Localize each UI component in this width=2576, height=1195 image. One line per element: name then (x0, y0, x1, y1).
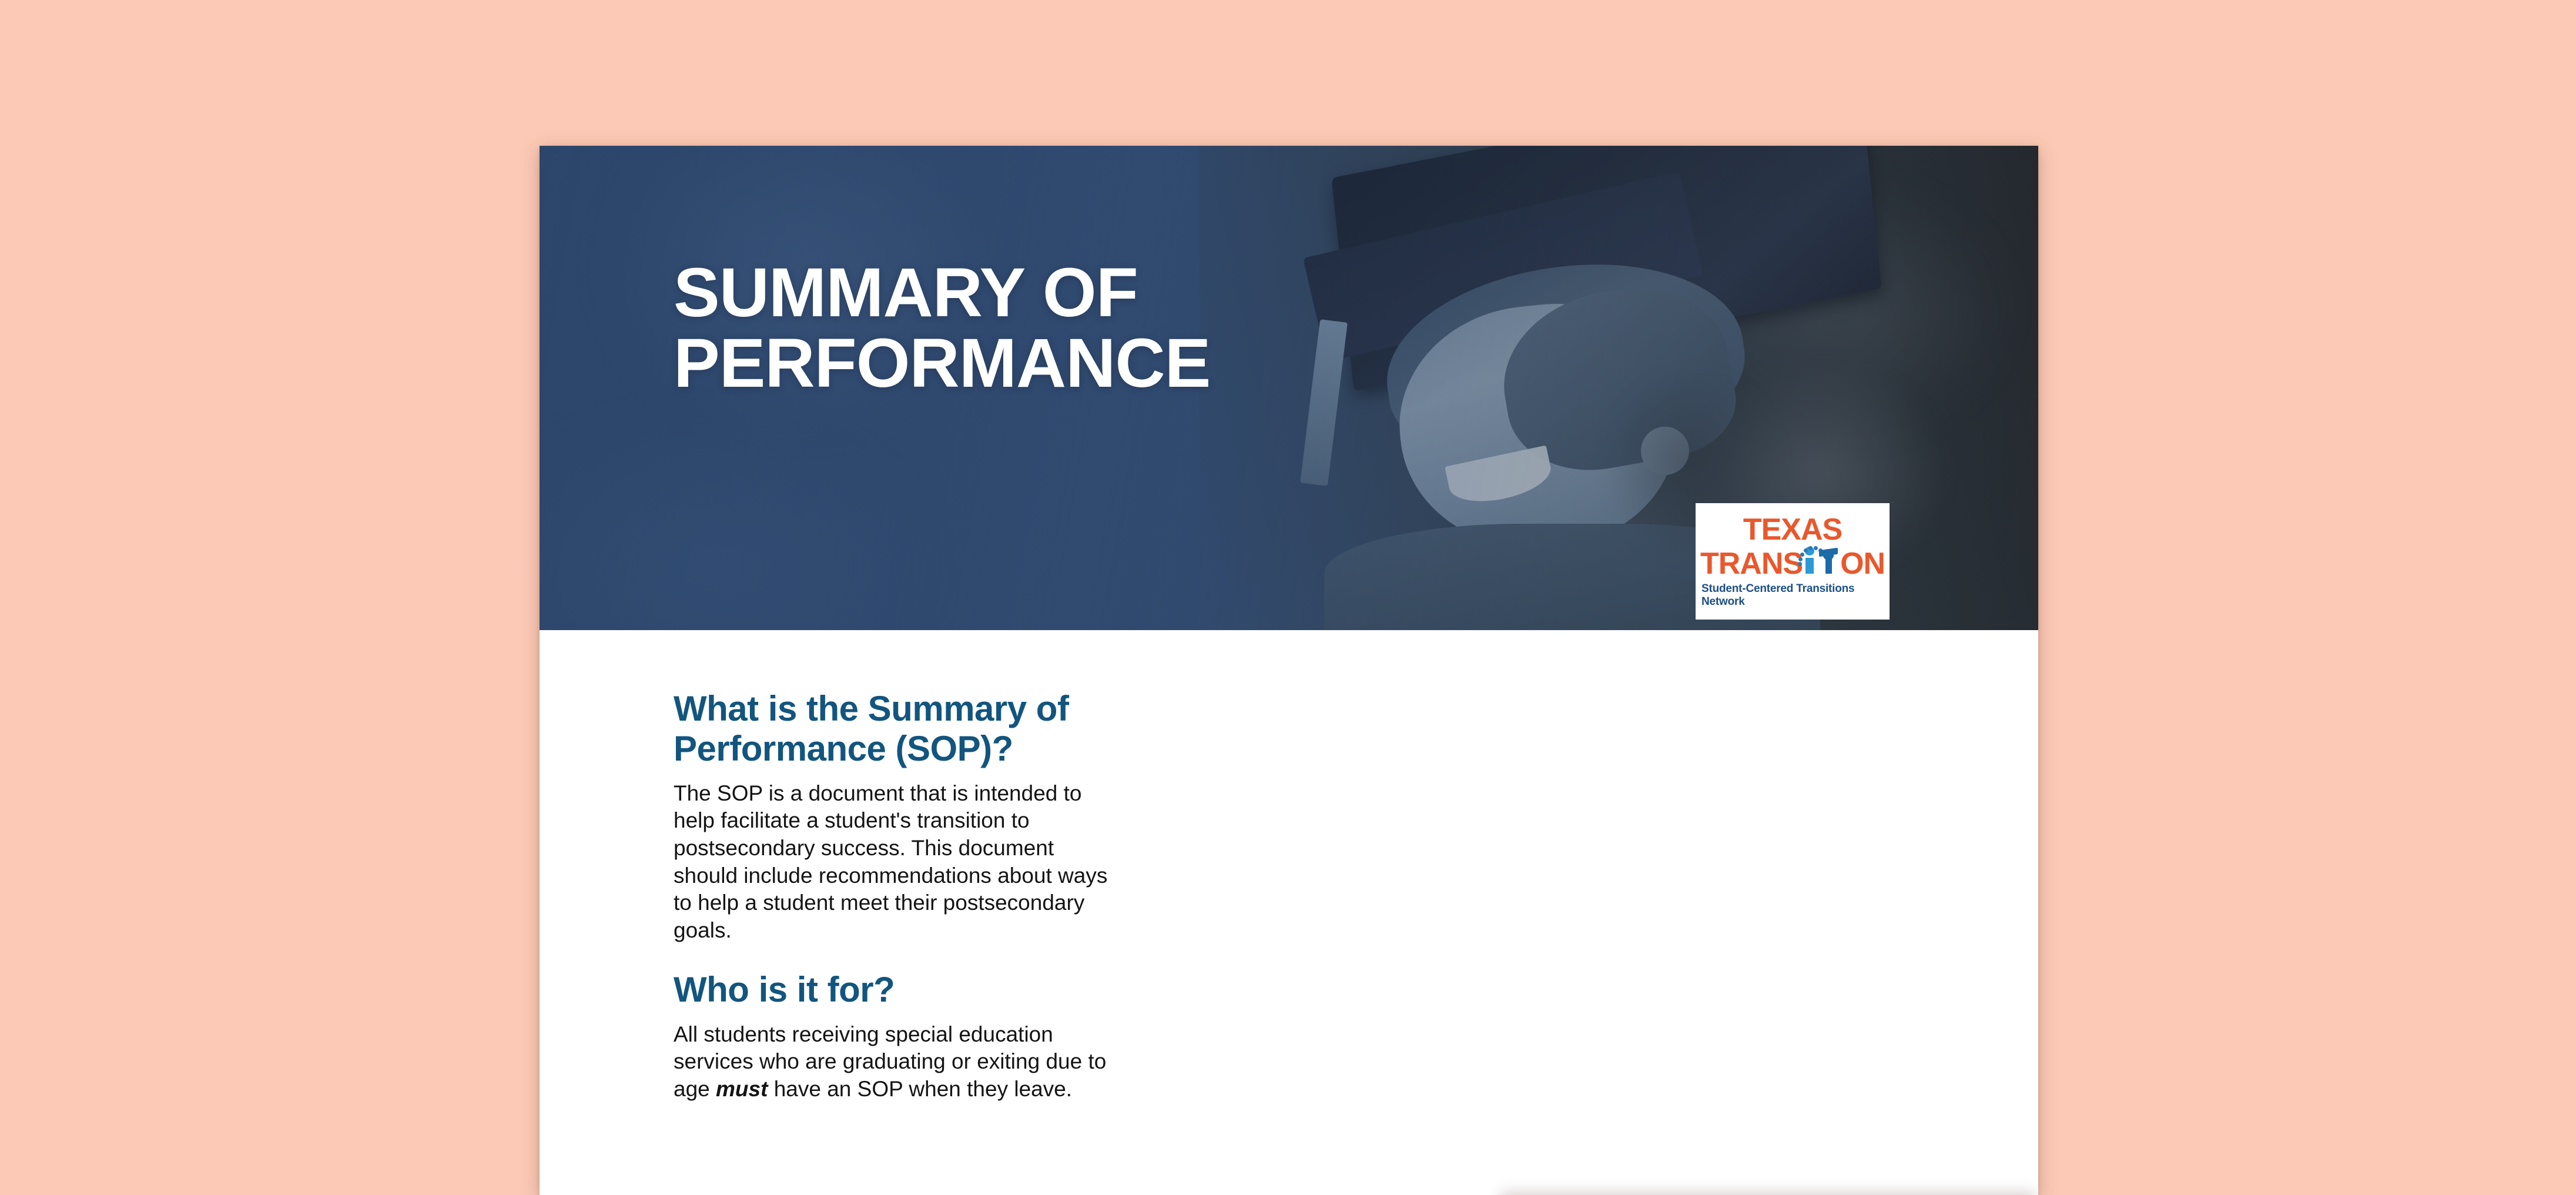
hero-banner: SUMMARY OF PERFORMANCE TEXAS TRANS (540, 146, 2038, 630)
section-body-who-is-it-for: All students receiving special education… (674, 1021, 1120, 1103)
page-title: SUMMARY OF PERFORMANCE (674, 257, 1210, 399)
texas-transition-logo: TEXAS TRANS ON Student-Centered (1696, 503, 1890, 620)
logo-line-2: TRANS ON (1700, 547, 1885, 579)
graduation-cap-icon (1817, 547, 1840, 574)
section-heading-who-is-it-for: Who is it for? (674, 970, 1120, 1010)
logo-on-text: ON (1840, 548, 1885, 579)
who-body-after: have an SOP when they leave. (768, 1077, 1072, 1101)
section-heading-what-is-sop: What is the Summary of Performance (SOP)… (674, 689, 1120, 769)
logo-trans-text: TRANS (1700, 548, 1803, 579)
content-area: What is the Summary of Performance (SOP)… (540, 630, 2038, 1195)
logo-line-1: TEXAS (1743, 514, 1842, 545)
logo-subtitle: Student-Centered Transitions Network (1701, 583, 1884, 608)
who-body-emphasis: must (716, 1077, 768, 1101)
left-text-column: What is the Summary of Performance (SOP)… (674, 689, 1120, 1129)
document-page: SUMMARY OF PERFORMANCE TEXAS TRANS (540, 146, 2038, 1195)
section-body-what-is-sop: The SOP is a document that is intended t… (674, 780, 1120, 945)
